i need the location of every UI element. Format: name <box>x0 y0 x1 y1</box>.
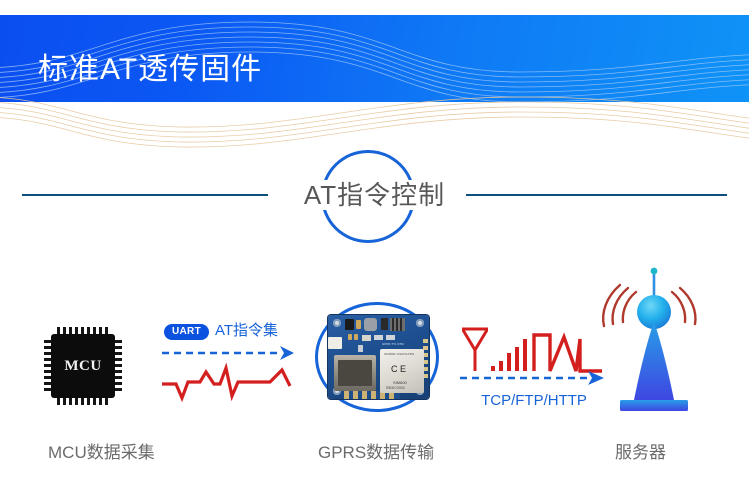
signal-bars-icon <box>491 339 527 371</box>
pcb-hole <box>416 319 424 327</box>
pcb-inductor <box>364 318 377 331</box>
pcb-component <box>381 318 388 330</box>
sim-card-slot-icon <box>334 355 376 391</box>
ecg-waveform-icon <box>162 368 290 398</box>
uart-arrow-and-waveform <box>160 344 310 414</box>
pcb-component <box>362 335 371 341</box>
pcb-component <box>374 335 383 340</box>
section-heading-text: AT指令控制 <box>0 180 749 210</box>
rf-module-marking-bottom: R800C0000 <box>386 386 405 390</box>
pcb-pad <box>423 339 428 343</box>
header-banner: 标准AT透传固件 <box>0 15 749 102</box>
pcb-connector <box>390 318 405 331</box>
tower-body <box>634 322 674 400</box>
caption-server: 服务器 <box>615 442 666 464</box>
pcb-component <box>345 319 354 330</box>
caption-mcu: MCU数据采集 <box>48 442 155 464</box>
gsm-rf-module: SIM800 GSM/GPRS C E SIM800 R800C0000 <box>380 349 424 393</box>
antenna-tip-dot <box>651 268 658 275</box>
below-banner-wave-lines <box>0 95 749 150</box>
signal-arcs-right <box>672 288 695 324</box>
signal-arcs-left <box>603 285 636 326</box>
cell-tower-graphic <box>596 260 712 420</box>
network-link-group: TCP/FTP/HTTP <box>458 325 610 420</box>
rf-module-marking-top: SIM800 GSM/GPRS <box>384 352 414 356</box>
dashed-arrow-right-icon <box>460 371 604 385</box>
pcb-component <box>348 334 352 340</box>
pcb-jst-connector <box>328 337 342 349</box>
pcb-component <box>356 320 361 329</box>
tower-base <box>620 400 688 411</box>
mcu-chip-label: MCU <box>42 325 124 407</box>
pcb-board-icon: GPRS TTL STM SIM800 GSM/GPRS C E SIM800 … <box>328 315 429 399</box>
network-glyphs <box>458 325 610 387</box>
mcu-chip-icon: MCU <box>42 325 124 407</box>
gprs-module-icon: GPRS TTL STM SIM800 GSM/GPRS C E SIM800 … <box>315 302 443 414</box>
caption-gprs: GPRS数据传输 <box>318 442 434 464</box>
rf-module-marking-mid: SIM800 <box>393 380 407 385</box>
pcb-component <box>354 334 358 340</box>
page-title: 标准AT透传固件 <box>38 53 262 87</box>
section-heading-label: AT指令控制 <box>300 180 449 210</box>
sim-slot-cavity <box>338 360 372 386</box>
uart-badge: UART <box>164 324 209 340</box>
at-command-set-label: AT指令集 <box>215 321 278 341</box>
protocol-label: TCP/FTP/HTTP <box>458 391 610 411</box>
server-tower-icon <box>596 260 712 420</box>
square-wave-icon <box>534 335 602 371</box>
section-heading: AT指令控制 <box>0 150 749 245</box>
antenna-icon <box>462 329 488 371</box>
pcb-silkscreen-1: GPRS TTL STM <box>382 342 404 346</box>
pcb-component <box>358 345 363 352</box>
rf-module-ce-mark: C E <box>391 365 406 374</box>
pcb-component <box>386 335 395 340</box>
uart-link-group: UART AT指令集 <box>160 320 310 420</box>
dashed-arrow-right-icon <box>162 346 294 360</box>
pcb-hole <box>333 319 341 327</box>
